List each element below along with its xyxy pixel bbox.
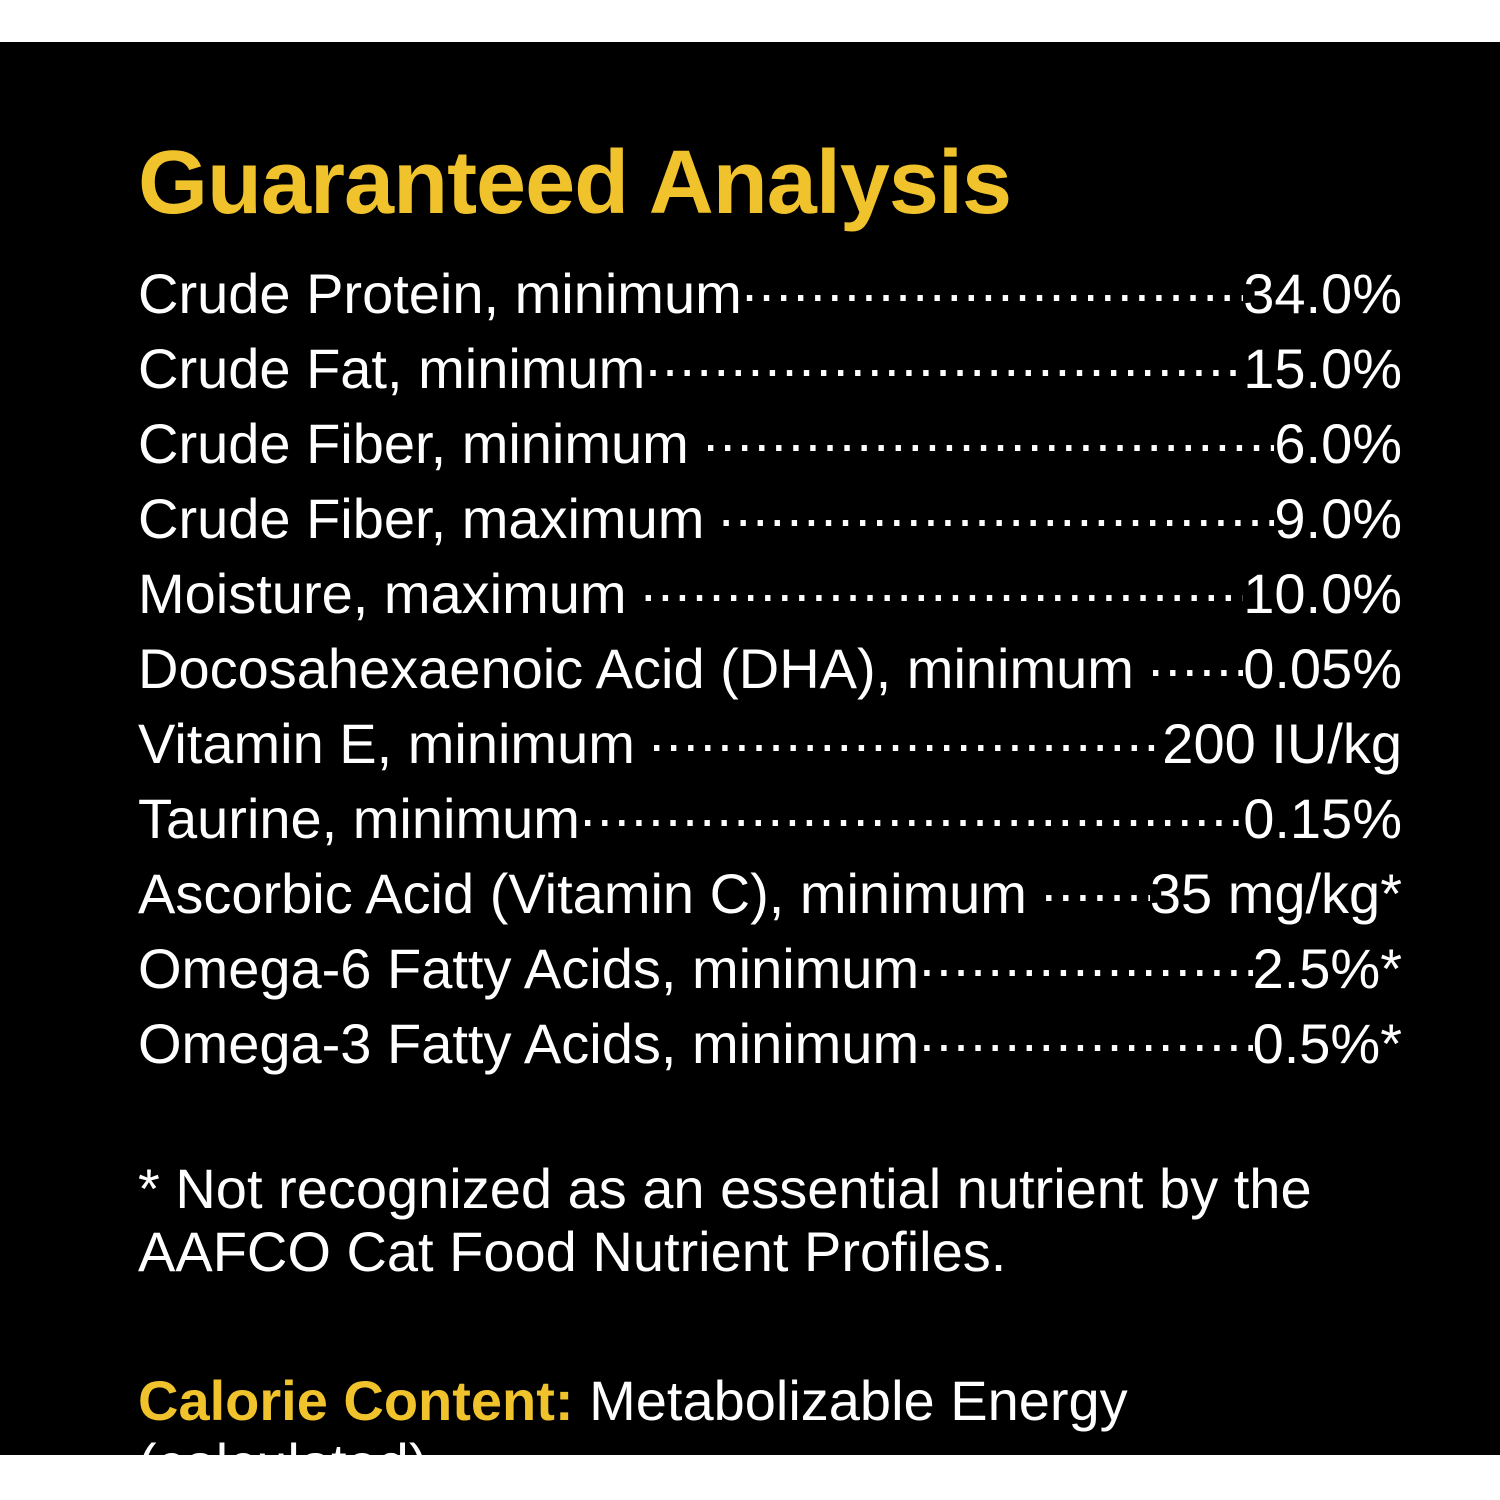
calorie-content-block: Calorie Content: Metabolizable Energy (c… bbox=[138, 1369, 1378, 1455]
nutrient-name: Crude Fiber, minimum bbox=[138, 412, 689, 475]
label-content: Guaranteed Analysis Crude Protein, minim… bbox=[138, 42, 1402, 1455]
nutrient-name: Crude Fat, minimum bbox=[138, 337, 645, 400]
nutrient-value: 15.0% bbox=[1243, 337, 1402, 400]
nutrient-row: Omega-6 Fatty Acids, minimum2.5%* bbox=[138, 925, 1402, 1000]
nutrient-value: 0.05% bbox=[1243, 637, 1402, 700]
nutrient-name: Omega-6 Fatty Acids, minimum bbox=[138, 937, 919, 1000]
page-title: Guaranteed Analysis bbox=[138, 42, 1402, 228]
dot-leader bbox=[1134, 625, 1243, 688]
dot-leader bbox=[704, 475, 1274, 538]
dot-leader bbox=[689, 400, 1275, 463]
nutrient-value: 9.0% bbox=[1274, 487, 1402, 550]
dot-leader bbox=[580, 775, 1243, 838]
nutrient-name: Moisture, maximum bbox=[138, 562, 627, 625]
nutrient-row: Docosahexaenoic Acid (DHA), minimum0.05% bbox=[138, 625, 1402, 700]
nutrient-name: Crude Protein, minimum bbox=[138, 262, 742, 325]
nutrient-row: Omega-3 Fatty Acids, minimum0.5%* bbox=[138, 1000, 1402, 1075]
dot-leader bbox=[919, 925, 1252, 988]
nutrient-row: Taurine, minimum0.15% bbox=[138, 775, 1402, 850]
nutrient-row: Crude Fiber, maximum9.0% bbox=[138, 475, 1402, 550]
dot-leader bbox=[635, 700, 1162, 763]
nutrient-value: 0.5%* bbox=[1253, 1012, 1402, 1075]
dot-leader bbox=[919, 1000, 1252, 1063]
nutrient-value: 200 IU/kg bbox=[1162, 712, 1402, 775]
nutrient-row: Crude Protein, minimum34.0% bbox=[138, 250, 1402, 325]
nutrient-name: Docosahexaenoic Acid (DHA), minimum bbox=[138, 637, 1134, 700]
nutrient-name: Crude Fiber, maximum bbox=[138, 487, 704, 550]
nutrient-value: 2.5%* bbox=[1253, 937, 1402, 1000]
nutrient-name: Taurine, minimum bbox=[138, 787, 580, 850]
nutrient-row: Crude Fat, minimum15.0% bbox=[138, 325, 1402, 400]
nutrient-value: 10.0% bbox=[1243, 562, 1402, 625]
nutrient-value: 0.15% bbox=[1243, 787, 1402, 850]
nutrient-row: Crude Fiber, minimum6.0% bbox=[138, 400, 1402, 475]
nutrient-value: 35 mg/kg* bbox=[1150, 862, 1402, 925]
nutrient-value: 6.0% bbox=[1274, 412, 1402, 475]
guaranteed-analysis-panel: Guaranteed Analysis Crude Protein, minim… bbox=[0, 42, 1500, 1455]
nutrient-name: Vitamin E, minimum bbox=[138, 712, 635, 775]
nutrient-table: Crude Protein, minimum34.0%Crude Fat, mi… bbox=[138, 250, 1402, 1075]
nutrient-name: Ascorbic Acid (Vitamin C), minimum bbox=[138, 862, 1027, 925]
nutrient-name: Omega-3 Fatty Acids, minimum bbox=[138, 1012, 919, 1075]
nutrient-row: Ascorbic Acid (Vitamin C), minimum35 mg/… bbox=[138, 850, 1402, 925]
nutrient-row: Moisture, maximum10.0% bbox=[138, 550, 1402, 625]
dot-leader bbox=[645, 325, 1243, 388]
dot-leader bbox=[627, 550, 1244, 613]
dot-leader bbox=[742, 250, 1243, 313]
calorie-content-heading: Calorie Content: bbox=[138, 1369, 574, 1432]
nutrient-row: Vitamin E, minimum200 IU/kg bbox=[138, 700, 1402, 775]
asterisk-footnote: * Not recognized as an essential nutrien… bbox=[138, 1157, 1368, 1283]
dot-leader bbox=[1027, 850, 1150, 913]
nutrient-value: 34.0% bbox=[1243, 262, 1402, 325]
